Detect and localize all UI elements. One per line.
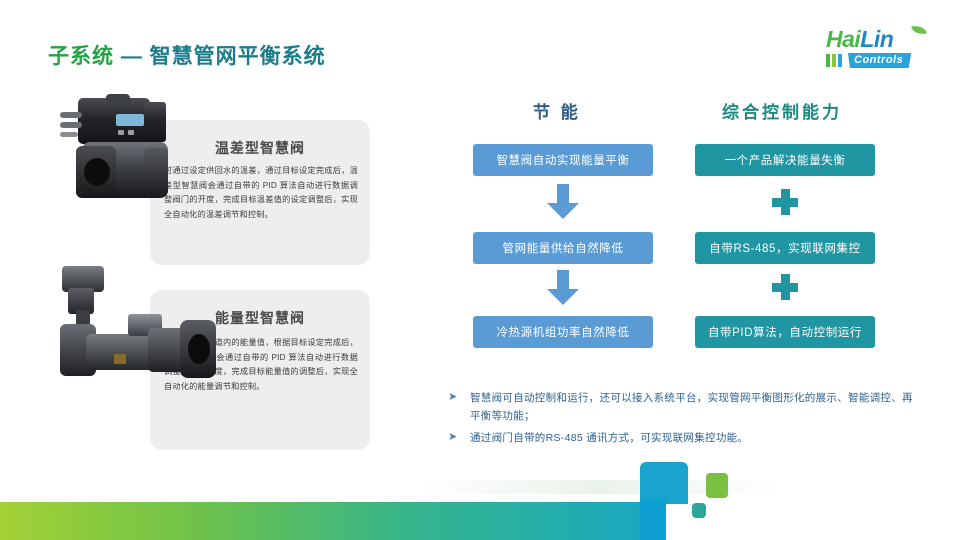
plus-icon bbox=[772, 189, 798, 215]
logo-wordmark: HaiLin bbox=[826, 26, 893, 52]
logo-badge-controls: Controls bbox=[848, 53, 911, 68]
flow-box-control-1[interactable]: 一个产品解决能量失衡 bbox=[695, 144, 875, 176]
bullet-text: 智慧阀可自动控制和运行，还可以接入系统平台，实现管网平衡图形化的展示、智能调控、… bbox=[470, 389, 918, 425]
down-arrow-icon bbox=[546, 184, 580, 220]
temperature-differential-smart-valve-photo bbox=[60, 96, 210, 216]
logo-word-hai: Hai bbox=[826, 26, 860, 52]
decorative-square-green bbox=[706, 473, 728, 498]
flow-box-control-2[interactable]: 自带RS-485，实现联网集控 bbox=[695, 232, 875, 264]
list-item: ➤ 智慧阀可自动控制和运行，还可以接入系统平台，实现管网平衡图形化的展示、智能调… bbox=[448, 389, 918, 425]
decorative-square-teal bbox=[692, 503, 706, 518]
list-item: ➤ 通过阀门自带的RS-485 通讯方式，可实现联网集控功能。 bbox=[448, 429, 918, 447]
leaf-icon bbox=[911, 24, 927, 37]
down-arrow-icon bbox=[546, 270, 580, 306]
logo-word-lin: Lin bbox=[860, 26, 893, 52]
decorative-gradient-bar bbox=[0, 502, 660, 540]
bullet-list: ➤ 智慧阀可自动控制和运行，还可以接入系统平台，实现管网平衡图形化的展示、智能调… bbox=[448, 389, 918, 451]
plus-icon bbox=[772, 274, 798, 300]
brand-logo: HaiLin Controls bbox=[820, 26, 942, 72]
chevron-right-icon: ➤ bbox=[448, 390, 457, 405]
column-heading-energy-saving: 节 能 bbox=[533, 98, 581, 123]
page-title: 子系统 — 智慧管网平衡系统 bbox=[48, 40, 326, 70]
bullet-text: 通过阀门自带的RS-485 通讯方式，可实现联网集控功能。 bbox=[470, 429, 918, 447]
page-title-separator: — bbox=[114, 45, 150, 68]
flow-box-energy-1[interactable]: 智慧阀自动实现能量平衡 bbox=[473, 144, 653, 176]
page-title-primary: 子系统 bbox=[48, 45, 114, 68]
chevron-right-icon: ➤ bbox=[448, 430, 457, 445]
energy-type-smart-valve-photo bbox=[52, 262, 227, 382]
decorative-step-shape bbox=[640, 462, 688, 540]
flow-box-energy-2[interactable]: 管网能量供给自然降低 bbox=[473, 232, 653, 264]
column-heading-control-capability: 综合控制能力 bbox=[722, 98, 842, 123]
bars-icon bbox=[826, 54, 842, 67]
flow-box-control-3[interactable]: 自带PID算法，自动控制运行 bbox=[695, 316, 875, 348]
flow-box-energy-3[interactable]: 冷热源机组功率自然降低 bbox=[473, 316, 653, 348]
page-title-secondary: 智慧管网平衡系统 bbox=[150, 45, 326, 68]
slide-canvas: 子系统 — 智慧管网平衡系统 HaiLin Controls 温差型智慧阀 可通… bbox=[0, 0, 960, 540]
